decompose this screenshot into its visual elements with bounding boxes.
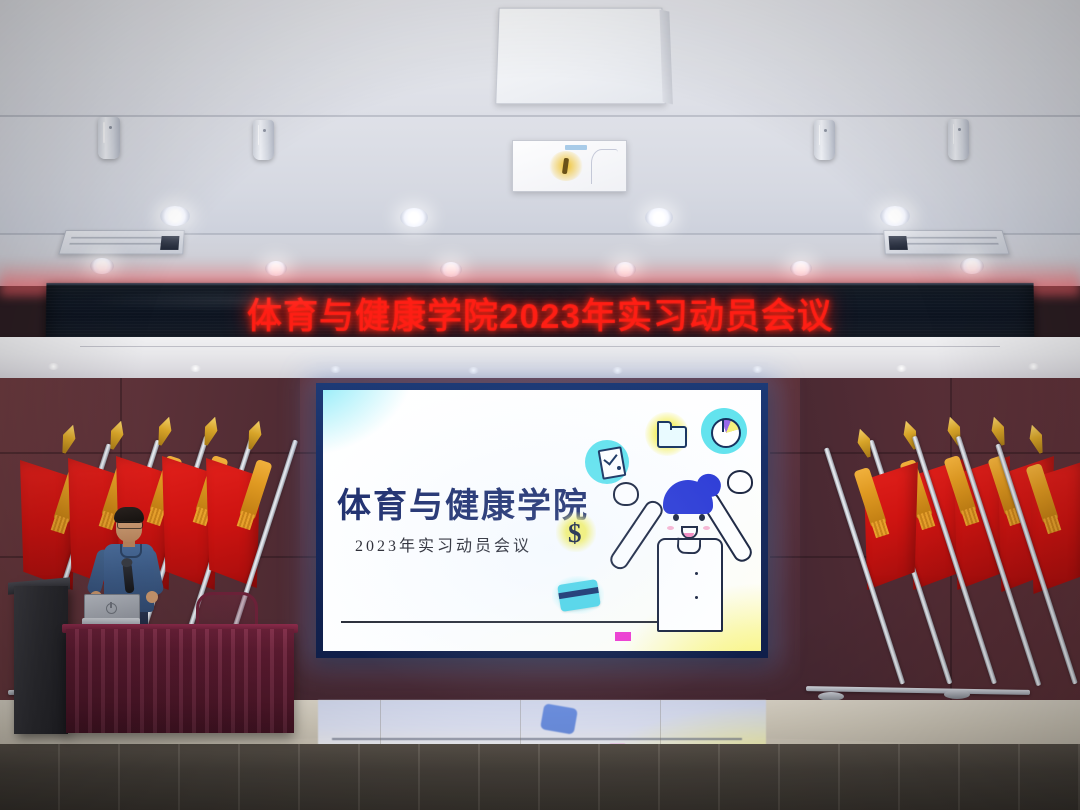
floor-tile-seam <box>520 700 521 744</box>
led-banner-text: 体育与健康学院2023年实习动员会议 <box>247 288 833 339</box>
soffit-downlight <box>190 365 201 372</box>
figure-button <box>695 596 698 599</box>
figure-collar <box>677 538 702 555</box>
flag-base <box>944 690 970 699</box>
hatch-blue-mark <box>565 145 587 150</box>
skirted-table <box>66 629 294 733</box>
projection-screen-frame: 体育与健康学院 2023年实习动员会议 $ <box>316 383 768 658</box>
ceiling-downlight <box>645 208 673 227</box>
pie-chart-divider <box>722 419 724 432</box>
conference-hall-photo: 体育与健康学院2023年实习动员会议 <box>0 0 1080 810</box>
ceiling-speaker-icon <box>253 120 274 160</box>
slide-subtitle: 2023年实习动员会议 <box>355 532 532 556</box>
ceiling-downlight <box>400 208 428 227</box>
soffit-reveal-line <box>80 346 1000 347</box>
reflection-rule <box>332 738 742 740</box>
reflection-credit-card <box>540 703 578 735</box>
led-banner: 体育与健康学院2023年实习动员会议 <box>46 283 1035 344</box>
figure-button <box>695 572 698 575</box>
hvac-vent-left <box>58 230 185 254</box>
figure-eye <box>673 514 679 521</box>
ceiling-speaker-icon <box>814 120 835 160</box>
ceiling-downlight <box>160 206 190 226</box>
cheering-person-illustration <box>611 446 751 626</box>
figure-eye <box>699 514 705 521</box>
ceiling-access-panel-lower <box>512 140 627 192</box>
ceiling-speaker-icon <box>98 117 120 159</box>
stage-front-riser <box>0 744 1080 810</box>
soffit-downlight <box>330 366 341 373</box>
folder-icon <box>657 426 687 448</box>
laptop-logo-icon <box>106 603 117 614</box>
dollar-sign-icon: $ <box>568 518 582 549</box>
figure-right-fist <box>727 470 753 494</box>
pie-chart-icon <box>711 418 741 448</box>
figure-hair <box>663 480 713 514</box>
soffit-downlight <box>468 367 479 374</box>
soffit-downlight <box>1028 363 1039 370</box>
ceiling-speaker-icon <box>948 119 969 160</box>
soffit-downlight <box>752 366 763 373</box>
hvac-vent-right <box>883 230 1010 254</box>
floor-tile-seam <box>380 700 381 744</box>
podium <box>14 586 68 734</box>
soffit-downlight <box>896 365 907 372</box>
glasses-icon <box>117 521 143 529</box>
slide-magenta-accent <box>615 632 631 641</box>
ceiling-seam <box>0 115 1080 117</box>
soffit-downlight <box>48 363 59 370</box>
ceiling-access-panel-upper <box>495 8 665 105</box>
hatch-printed-sign <box>549 151 583 181</box>
figure-cheek <box>703 526 710 530</box>
figure-cheek <box>667 526 674 530</box>
presenter-right-hand <box>146 591 158 603</box>
projection-screen: 体育与健康学院 2023年实习动员会议 $ <box>323 390 761 651</box>
ceiling-downlight <box>880 206 910 226</box>
soffit-band <box>0 337 1080 381</box>
hatch-figure-mark <box>591 149 618 184</box>
soffit-downlight <box>612 367 623 374</box>
figure-left-fist <box>613 482 639 506</box>
floor-tile-seam <box>660 700 661 744</box>
slide-title: 体育与健康学院 <box>337 478 589 527</box>
